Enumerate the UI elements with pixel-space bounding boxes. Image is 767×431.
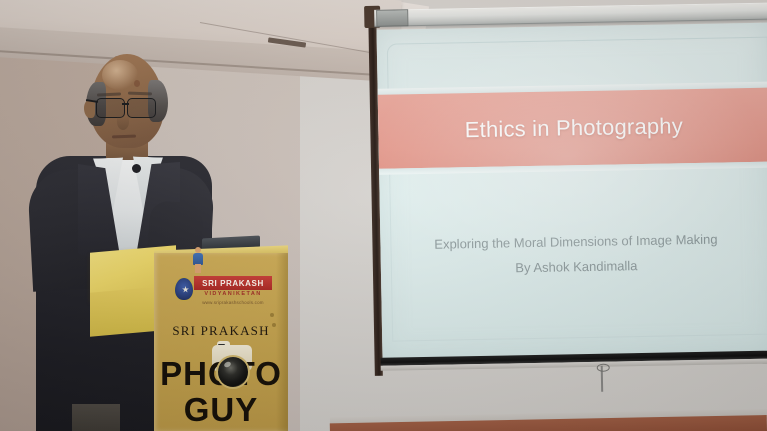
speaker-collar-button bbox=[132, 164, 141, 173]
eyeglasses-bridge bbox=[122, 103, 129, 105]
lectern-event-org: SRI PRAKASH bbox=[154, 323, 288, 339]
screen-cord-ring bbox=[597, 364, 610, 372]
speaker-ear-left bbox=[84, 100, 95, 118]
slide-title: Ethics in Photography bbox=[465, 113, 684, 143]
lectern-screw-2 bbox=[272, 323, 276, 327]
projection-screen: Ethics in Photography Exploring the Mora… bbox=[366, 0, 767, 382]
slide-subtitle-block: Exploring the Moral Dimensions of Image … bbox=[380, 227, 767, 284]
projected-slide: Ethics in Photography Exploring the Mora… bbox=[377, 31, 767, 344]
crest-star-icon bbox=[182, 286, 189, 293]
lectern-org-url: www.sriprakashschools.com bbox=[192, 300, 274, 305]
eyeglasses-lens-right bbox=[127, 98, 156, 118]
lectern-org-name-plate: SRI PRAKASH bbox=[194, 276, 272, 290]
slide-title-band: Ethics in Photography bbox=[378, 88, 767, 169]
school-crest-icon bbox=[174, 277, 194, 301]
lectern-org-banner: SRI PRAKASH VIDYANIKETAN www.sriprakashs… bbox=[172, 275, 278, 313]
lectern-org-subtitle: VIDYANIKETAN bbox=[196, 291, 270, 297]
presentation-photo-scene: Ethics in Photography Exploring the Mora… bbox=[0, 0, 767, 431]
screen-roller-bracket bbox=[376, 9, 408, 27]
lectern-org-name: SRI PRAKASH bbox=[202, 279, 264, 288]
speaker-head-highlight bbox=[102, 60, 138, 90]
lectern-screw-1 bbox=[270, 313, 274, 317]
lectern-event-word-2: GUY bbox=[154, 393, 288, 426]
camera-lens-icon bbox=[218, 357, 248, 387]
speaker-forehead-mark bbox=[134, 80, 140, 87]
speaker-nose bbox=[117, 114, 129, 130]
mascot-legs bbox=[195, 264, 201, 273]
lectern: SRI PRAKASH VIDYANIKETAN www.sriprakashs… bbox=[92, 245, 288, 431]
mascot-figure-icon bbox=[192, 245, 204, 275]
